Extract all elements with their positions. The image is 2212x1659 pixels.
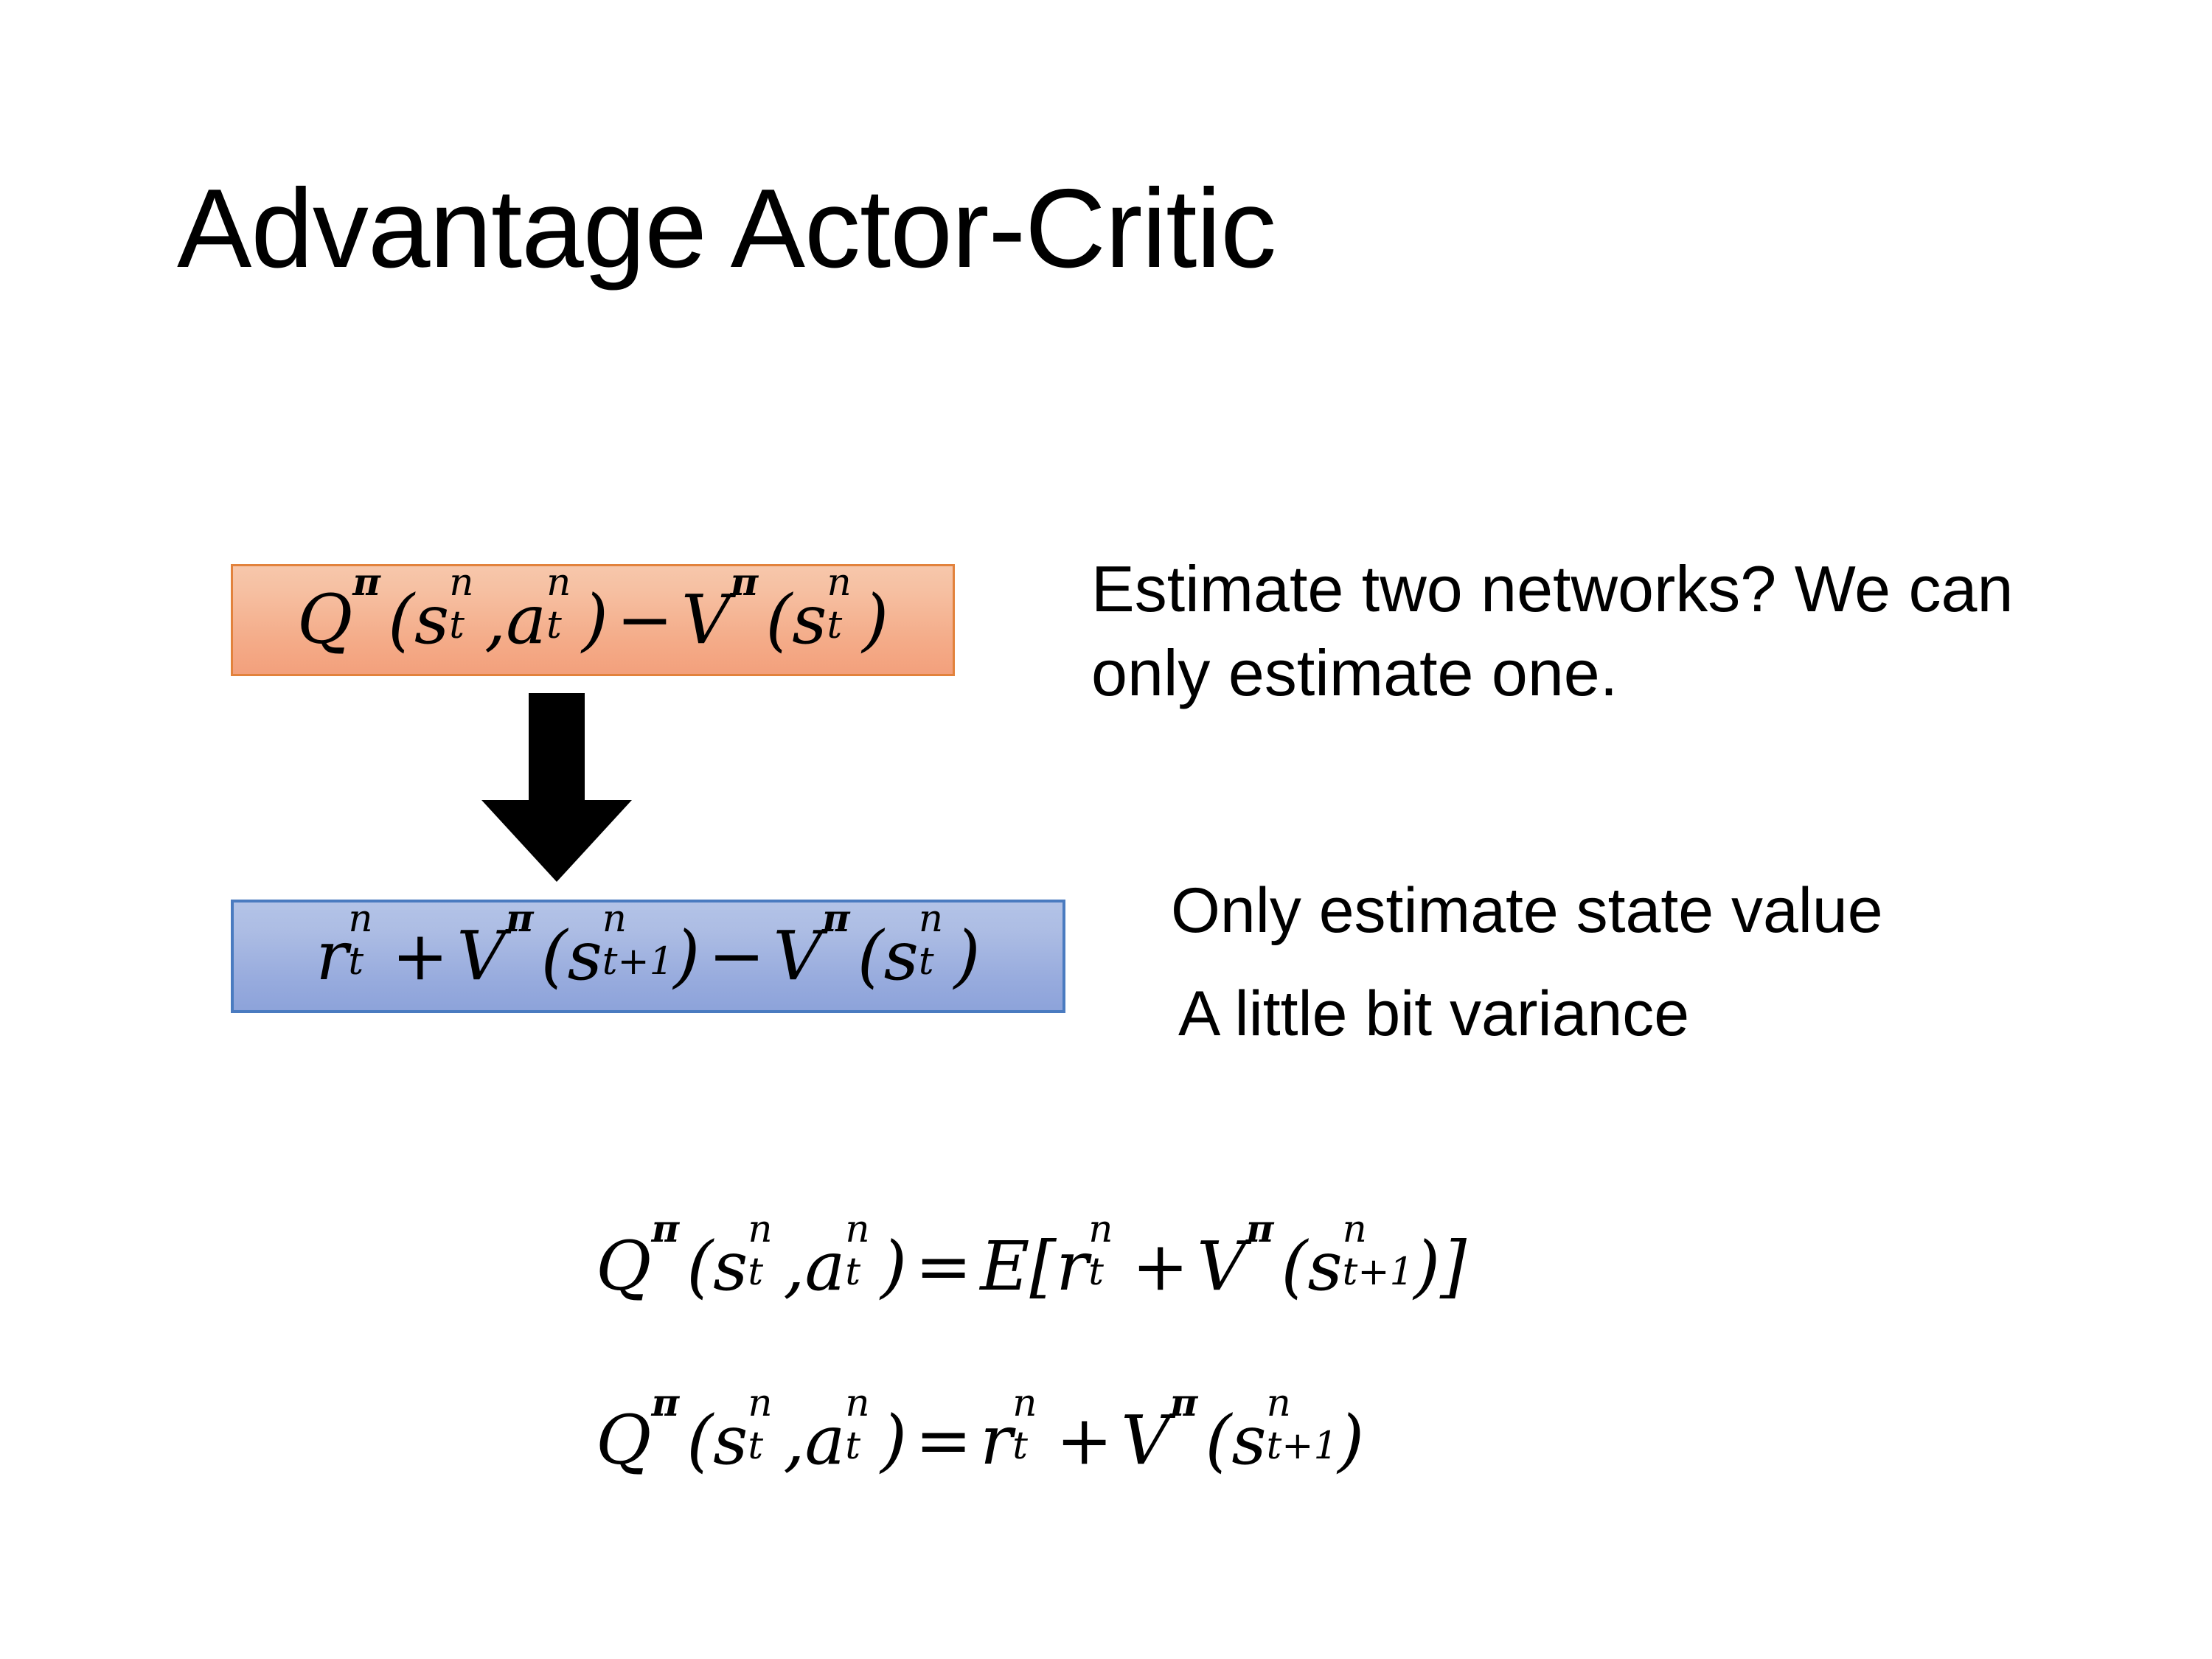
state-term-1: snt: [414, 586, 449, 654]
td-error-formula-box-blue[interactable]: rnt+Vπ(snt+1)−Vπ(snt): [231, 900, 1065, 1013]
bottom-formula-expectation: Qπ(snt,ant)=E[rnt+Vπ(snt+1)]: [596, 1233, 1467, 1301]
pi-superscript: π: [730, 564, 758, 602]
a-subscript: t: [845, 1427, 860, 1466]
pi-superscript-2: π: [1170, 1385, 1198, 1423]
r-superscript: n: [1012, 1385, 1037, 1423]
reward-term: rnt: [980, 1407, 1012, 1475]
action-term: ant: [506, 586, 546, 654]
pi-superscript: π: [651, 1385, 679, 1423]
close-paren-2b: ): [954, 917, 981, 995]
s-subscript: t: [748, 1253, 763, 1292]
state-term: snt: [713, 1233, 748, 1301]
s-symbol: s: [414, 580, 449, 659]
note-a-little-bit-variance: A little bit variance: [1178, 973, 2137, 1056]
comma: ,: [783, 1227, 804, 1306]
close-paren-2: ): [1338, 1401, 1364, 1480]
s-symbol: s: [713, 1227, 748, 1306]
v-symbol: V: [1121, 1401, 1169, 1480]
s-subscript-2: t: [919, 943, 934, 981]
v-symbol-2: V: [773, 917, 821, 995]
slide-canvas: Advantage Actor-Critic Qπ(snt,ant)−Vπ(sn…: [0, 0, 2212, 1659]
open-paren: (: [686, 1227, 713, 1306]
s-superscript: n: [748, 1385, 772, 1423]
s-subscript-2: t+1: [1267, 1427, 1338, 1466]
action-term: ant: [804, 1233, 845, 1301]
q-symbol: Q: [596, 1401, 651, 1480]
plus-operator: +: [1048, 1401, 1121, 1480]
reward-term: rnt: [316, 922, 348, 990]
close-paren-1: ): [673, 917, 700, 995]
s-symbol: s: [713, 1401, 748, 1480]
plus-operator: +: [383, 917, 456, 995]
q-term: Qπ: [596, 1233, 651, 1301]
close-paren-2: ): [862, 580, 888, 659]
equals-operator: =: [907, 1401, 980, 1480]
s-symbol-2: s: [884, 917, 919, 995]
s-superscript: n: [748, 1211, 772, 1249]
s-symbol-2: s: [792, 580, 827, 659]
q-symbol: Q: [596, 1227, 651, 1306]
r-subscript: t: [1012, 1427, 1028, 1466]
down-arrow-icon: [479, 693, 634, 883]
a-subscript: t: [546, 607, 562, 645]
advantage-formula: Qπ(snt,ant)−Vπ(snt): [297, 586, 888, 654]
v-term: Vπ: [681, 586, 730, 654]
page-title: Advantage Actor-Critic: [177, 168, 1276, 289]
minus-operator: −: [608, 580, 681, 659]
open-bracket: [: [1029, 1227, 1056, 1306]
s-subscript: t: [449, 607, 465, 645]
comma: ,: [484, 580, 506, 659]
a-symbol: a: [804, 1227, 845, 1306]
s-superscript-1: n: [602, 900, 627, 939]
s-superscript-2: n: [827, 564, 851, 602]
close-paren: ): [880, 1227, 907, 1306]
state-term: snt: [884, 922, 919, 990]
reward-term: rnt: [1056, 1233, 1088, 1301]
next-state-term: snt+1: [1231, 1407, 1266, 1475]
v-term-2: Vπ: [773, 922, 821, 990]
v-term-1: Vπ: [456, 922, 505, 990]
v-symbol: V: [1197, 1227, 1245, 1306]
open-paren-2: (: [1281, 1227, 1308, 1306]
comma: ,: [783, 1401, 804, 1480]
s-superscript-2: n: [1267, 1385, 1291, 1423]
r-symbol: r: [316, 917, 348, 995]
close-paren: ): [880, 1401, 907, 1480]
next-state-term: snt+1: [568, 922, 602, 990]
pi-superscript: π: [651, 1211, 679, 1249]
a-subscript: t: [845, 1253, 860, 1292]
q-term: Qπ: [297, 586, 352, 654]
close-paren-2: ): [1413, 1227, 1440, 1306]
pi-superscript: π: [352, 564, 380, 602]
r-symbol: r: [980, 1401, 1012, 1480]
r-superscript: n: [348, 900, 372, 939]
close-paren: ): [582, 580, 608, 659]
s-superscript: n: [449, 564, 473, 602]
open-paren-2: (: [765, 580, 792, 659]
note-two-networks: Estimate two networks? We can only estim…: [1091, 547, 2050, 716]
open-paren-1: (: [541, 917, 568, 995]
open-paren-2: (: [1205, 1401, 1231, 1480]
s-superscript-2: n: [919, 900, 943, 939]
plus-operator: +: [1124, 1227, 1197, 1306]
s-subscript-1: t+1: [602, 943, 674, 981]
state-term: snt: [713, 1407, 748, 1475]
close-bracket: ]: [1440, 1227, 1467, 1306]
q-symbol: Q: [297, 580, 352, 659]
a-symbol: a: [506, 580, 546, 659]
s-subscript: t: [748, 1427, 763, 1466]
equals-operator: =: [907, 1227, 980, 1306]
pi-superscript-1: π: [506, 900, 534, 939]
minus-operator: −: [700, 917, 773, 995]
pi-superscript-2: π: [822, 900, 850, 939]
s-symbol-2: s: [1231, 1401, 1266, 1480]
advantage-formula-box-orange[interactable]: Qπ(snt,ant)−Vπ(snt): [231, 564, 955, 676]
s-symbol-2: s: [1307, 1227, 1342, 1306]
note-only-estimate-state-value: Only estimate state value: [1171, 870, 2129, 953]
a-symbol: a: [804, 1401, 845, 1480]
v-symbol: V: [681, 580, 730, 659]
state-term-2: snt: [792, 586, 827, 654]
s-superscript-2: n: [1343, 1211, 1367, 1249]
action-term: ant: [804, 1407, 845, 1475]
r-subscript: t: [1088, 1253, 1104, 1292]
td-error-formula: rnt+Vπ(snt+1)−Vπ(snt): [316, 922, 980, 990]
q-term: Qπ: [596, 1407, 651, 1475]
r-symbol: r: [1056, 1227, 1088, 1306]
s-subscript-2: t+1: [1343, 1253, 1414, 1292]
r-superscript: n: [1088, 1211, 1113, 1249]
open-paren-2b: (: [858, 917, 884, 995]
v-term: Vπ: [1197, 1233, 1245, 1301]
bottom-formula-single-sample: Qπ(snt,ant)=rnt+Vπ(snt+1): [596, 1407, 1364, 1475]
r-subscript: t: [348, 943, 364, 981]
expectation-symbol: E: [980, 1227, 1029, 1306]
s-symbol-1: s: [568, 917, 602, 995]
v-symbol-1: V: [456, 917, 505, 995]
v-term: Vπ: [1121, 1407, 1169, 1475]
next-state-term: snt+1: [1307, 1233, 1342, 1301]
open-paren: (: [686, 1401, 713, 1480]
s-subscript-2: t: [827, 607, 842, 645]
pi-superscript-2: π: [1246, 1211, 1274, 1249]
a-superscript: n: [546, 564, 571, 602]
a-superscript: n: [845, 1211, 869, 1249]
open-paren: (: [388, 580, 414, 659]
a-superscript: n: [845, 1385, 869, 1423]
